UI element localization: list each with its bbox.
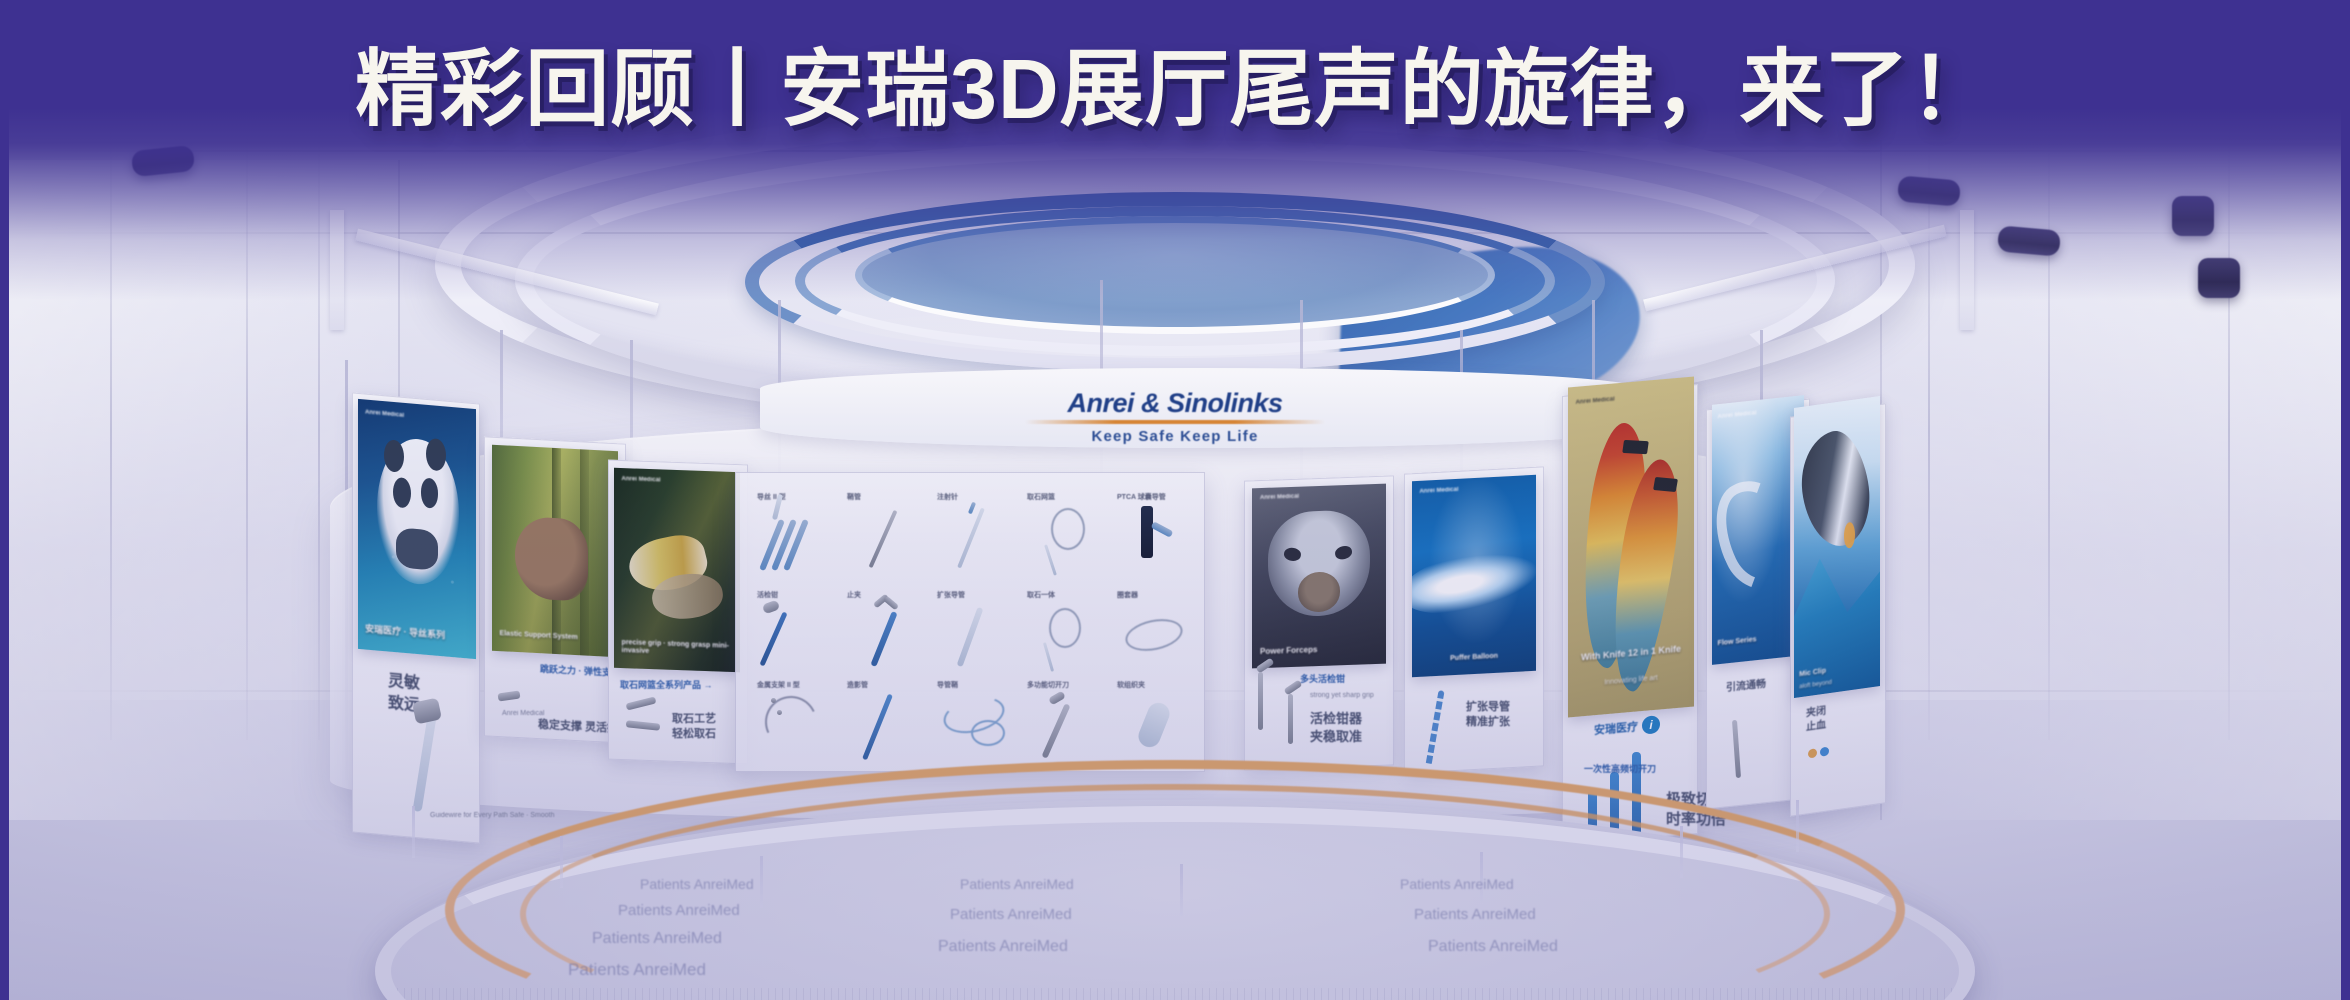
catalog-label: 止夹 [847,590,861,600]
catalog-cell[interactable]: 多功能切开刀 [1027,680,1113,766]
catalog-label: 金属支架 II 型 [757,680,800,690]
poster-badger-note: strong yet sharp grip [1310,692,1374,699]
catalog-cell[interactable]: 导丝 II 型 [757,492,843,578]
device-hub [1141,506,1153,558]
poster-frog[interactable]: Anrei Medical precise grip · strong gras… [614,468,740,672]
ceiling-light-fixture [1897,175,1961,206]
catalog-label: 取石一体 [1027,590,1055,600]
clip-body [1135,700,1173,751]
device-branch [1151,521,1174,538]
device-tip [968,502,976,515]
sheath-loop [971,720,1005,746]
poster-brand: Anrei Medical [1260,494,1299,501]
poster-badger-spec: 多头活检钳 [1300,672,1345,685]
poster-kangaroo[interactable]: Elastic Support System [492,445,618,658]
device-silhouette [869,510,898,568]
poster-puffer[interactable]: Anrei Medical Puffer Balloon [1412,475,1536,677]
poster-puffer-caption: 扩张导管 精准扩张 [1466,700,1510,730]
device-shaft [1044,544,1057,575]
floor-text-line: Patients AnreiMed [618,902,740,919]
poster-kangaroo-note: Anrei Medical [502,710,544,717]
railing-post [1796,800,1799,852]
snare-loop [1123,614,1186,655]
catalog-label: 注射针 [937,492,958,502]
catalog-cell[interactable]: 扩张导管 [937,590,1023,676]
poster-frog-spec: 取石网篮全系列产品 → [620,678,713,691]
ceiling-post [1960,210,1974,330]
ceiling-light-fixture [2172,196,2214,236]
dot-blue [1820,747,1829,757]
poster-brand: Anrei Medical [1419,487,1458,495]
info-icon: i [1642,715,1660,735]
poster-eagle[interactable]: Mic Clip aloft beyond [1794,396,1880,698]
floor-text-line: Patients AnreiMed [568,960,706,980]
knife-tip [1048,691,1066,706]
catalog-cell[interactable]: 鞘管 [847,492,933,578]
device-shaft [870,611,897,667]
bird-beak [1623,440,1650,455]
catalog-cell[interactable]: PTCA 球囊导管 [1117,492,1203,578]
frame-edge-right [2341,0,2350,1000]
floor-text-line: Patients AnreiMed [960,876,1074,892]
device-silhouette [957,508,985,569]
catalog-label: 圈套器 [1117,590,1138,600]
catalog-cell[interactable]: 软组织夹 [1117,680,1203,766]
catalog-label: 取石网篮 [1027,492,1055,502]
panda-arm [396,527,438,571]
railing-post [1180,864,1183,916]
angio-catheter [862,694,893,761]
dot-orange [1808,748,1817,758]
poster-brand: Anrei Medical [622,476,661,483]
catalog-label: 扩张导管 [937,590,965,600]
poster-title: Puffer Balloon [1419,651,1528,665]
catalog-cell[interactable]: 金属支架 II 型 [757,680,843,766]
catalog-label: 导管鞘 [937,680,958,690]
poster-badger-caption: 活检钳器 夹稳取准 [1310,710,1362,745]
marker-dot [771,698,776,703]
clip-arm [883,596,899,611]
device-shaft [1041,703,1070,758]
catalog-cell[interactable]: 取石一体 [1027,590,1113,676]
poster-brand: Anrei Medical [1576,397,1615,406]
poster-panda-note: Guidewire for Every Path Safe · Smooth [430,812,555,819]
ceiling-post [330,210,344,330]
floor-text-line: Patients AnreiMed [1414,906,1536,923]
wall-panel-right [1880,140,2350,820]
device-shaft [1288,694,1293,744]
device-shaft [1043,642,1054,672]
poster-bird[interactable]: Anrei Medical With Knife 12 in 1 Knife I… [1568,376,1694,717]
device-shaft [759,611,787,666]
floor-text-line: Patients AnreiMed [592,930,722,948]
catalog-label: 软组织夹 [1117,680,1145,690]
device-shaft [1258,672,1263,730]
floor-text-line: Patients AnreiMed [938,938,1068,956]
floor-text-line: Patients AnreiMed [1400,876,1514,892]
catalog-cell[interactable]: 取石网篮 [1027,492,1113,578]
brand-swoosh [1025,420,1325,424]
floor-text-line: Patients AnreiMed [1428,938,1558,956]
catalog-label: PTCA 球囊导管 [1117,492,1166,502]
catalog-cell[interactable]: 注射针 [937,492,1023,578]
poster-title: Flow Series [1718,631,1799,648]
catalog-cell[interactable]: 导管鞘 [937,680,1023,766]
sun-dot [1844,521,1855,549]
catalog-cell[interactable]: 圈套器 [1117,590,1203,676]
catalog-cell[interactable]: 活检钳 [757,590,843,676]
marker-dot [777,710,782,715]
floor-text-line: Patients AnreiMed [640,876,754,892]
page-title: 精彩回顾丨安瑞3D展厅尾声的旋律，来了！ [0,22,2350,143]
poster-panda[interactable]: Anrei Medical 安瑞医疗 · 导丝系列 [358,399,476,659]
frame-edge-left [0,0,9,1000]
basket-loop [1049,608,1081,648]
puffer-wave [1412,539,1536,625]
forceps-jaw [762,600,780,615]
bird-beak [1653,477,1678,492]
catalog-cell[interactable]: 止夹 [847,590,933,676]
ceiling-light-fixture [2198,258,2240,298]
basket-loop [1051,508,1085,550]
poster-title: 安瑞医疗 · 导丝系列 [365,623,469,643]
railing-post [412,806,415,858]
catalog-label: 鞘管 [847,492,861,502]
poster-bird-spec: 一次性高频切开刀 [1584,762,1656,775]
railing-post [1680,826,1683,878]
catalog-label: 造影管 [847,680,868,690]
balloon-catheter [957,607,984,667]
catalog-label: 活检钳 [757,590,778,600]
poster-title: precise grip · strong grasp mini-invasiv… [622,639,733,660]
floor-text-line: Patients AnreiMed [950,906,1072,923]
poster-brand: Anrei Medical [1718,411,1757,421]
poster-brand: Anrei Medical [365,409,404,418]
poster-badger[interactable]: Anrei Medical Power Forceps [1252,484,1386,669]
ceiling-light-fixture [1997,225,2061,256]
product-catalog-board[interactable]: 导丝 II 型 鞘管 注射针 取石网篮 PTCA 球囊导管 活检钳 [735,472,1205,772]
badge-label: 安瑞医疗 [1594,718,1638,738]
catalog-cell[interactable]: 造影管 [847,680,933,766]
railing-post [560,836,563,888]
railing-post [760,856,763,908]
kangaroo-body [515,516,588,602]
eagle-bird [1794,423,1878,555]
panda-eye-left [393,477,411,509]
stent-curve [758,689,825,756]
catalog-label: 多功能切开刀 [1027,680,1069,690]
poster-frog-caption: 取石工艺 轻松取石 [672,712,716,742]
poster-title: Power Forceps [1260,643,1378,657]
showroom-banner: Anrei & Sinolinks Keep Safe Keep Life An… [0,0,2350,1000]
poster-eagle-caption: 夹闭 止血 [1806,705,1826,735]
